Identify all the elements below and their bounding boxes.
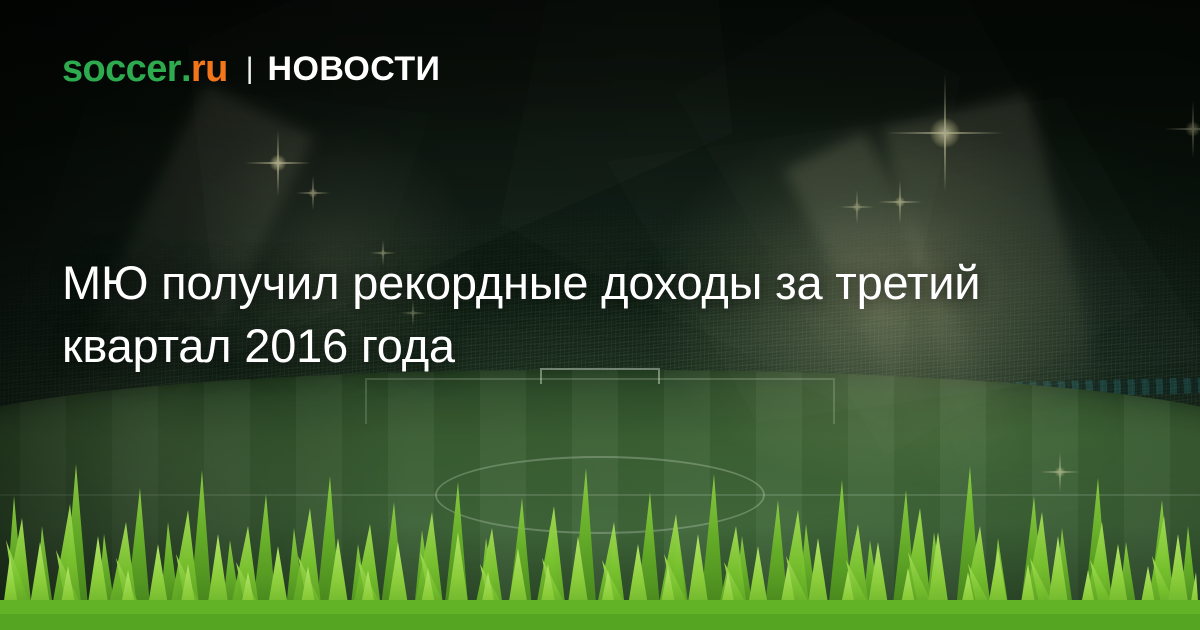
logo-separator: |: [246, 54, 254, 84]
banner-content: soccer . ru | НОВОСТИ МЮ получил рекордн…: [0, 0, 1200, 630]
site-logo[interactable]: soccer . ru | НОВОСТИ: [62, 50, 440, 88]
logo-brand-text: soccer: [62, 50, 181, 88]
news-banner: soccer . ru | НОВОСТИ МЮ получил рекордн…: [0, 0, 1200, 630]
section-label-novosti: НОВОСТИ: [268, 52, 441, 86]
logo-tld-text: ru: [191, 50, 228, 88]
article-headline: МЮ получил рекордные доходы за третий кв…: [62, 252, 1092, 377]
logo-dot: .: [181, 50, 191, 88]
